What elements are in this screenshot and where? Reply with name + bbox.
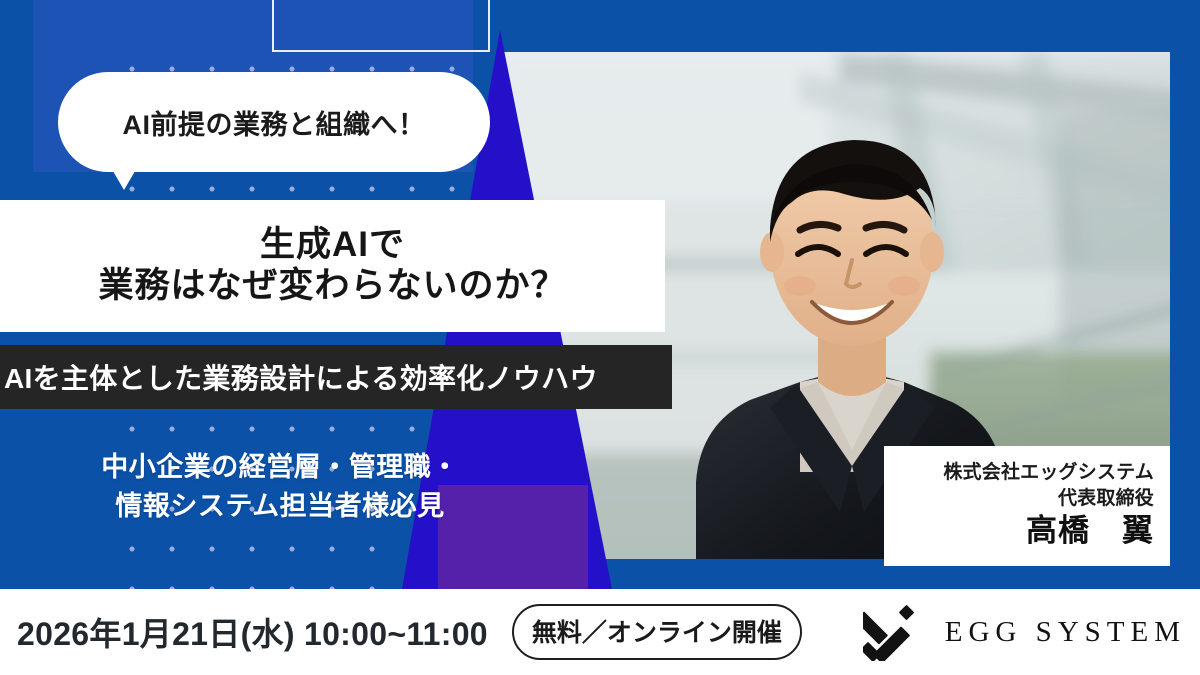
subtitle-bar: AIを主体とした業務設計による効率化ノウハウ [0, 345, 672, 409]
price-format-badge: 無料／オンライン開催 [512, 604, 802, 660]
speaker-position: 代表取締役 [1058, 486, 1154, 512]
speech-bubble-text: AI前提の業務と組織へ！ [123, 103, 426, 142]
blue-background-panel: AI前提の業務と組織へ！ 生成AIで 業務はなぜ変わらないのか？ AIを主体とし… [0, 0, 1200, 589]
target-audience-block: 中小企業の経営層・管理職・ 情報システム担当者様必見 [0, 448, 560, 526]
speaker-company: 株式会社エッグシステム [943, 461, 1154, 486]
event-date-text: 2026年1月21日(水) 10:00~11:00 [17, 609, 488, 655]
target-audience-line-2: 情報システム担当者様必見 [0, 487, 560, 526]
company-logo: EGG SYSTEM [863, 603, 1186, 661]
company-logo-text: EGG SYSTEM [945, 616, 1186, 649]
price-format-badge-label: 無料／オンライン開催 [532, 613, 782, 649]
webinar-banner: AI前提の業務と組織へ！ 生成AIで 業務はなぜ変わらないのか？ AIを主体とし… [0, 0, 1200, 675]
speaker-name: 高橋 翼 [1026, 512, 1154, 551]
main-title-line-2: 業務はなぜ変わらないのか？ [98, 264, 566, 308]
main-title-box: 生成AIで 業務はなぜ変わらないのか？ [0, 200, 665, 332]
speech-bubble-tail [110, 166, 138, 190]
target-audience-line-1: 中小企業の経営層・管理職・ [0, 448, 560, 487]
footer-bar: 2026年1月21日(水) 10:00~11:00 無料／オンライン開催 EGG… [0, 589, 1200, 675]
main-title-line-1: 生成AIで [260, 225, 405, 264]
subtitle-text: AIを主体とした業務設計による効率化ノウハウ [0, 357, 598, 397]
speaker-info-box: 株式会社エッグシステム 代表取締役 高橋 翼 [884, 446, 1170, 566]
egg-system-mark-icon [863, 603, 921, 661]
speech-bubble: AI前提の業務と組織へ！ [58, 72, 490, 172]
